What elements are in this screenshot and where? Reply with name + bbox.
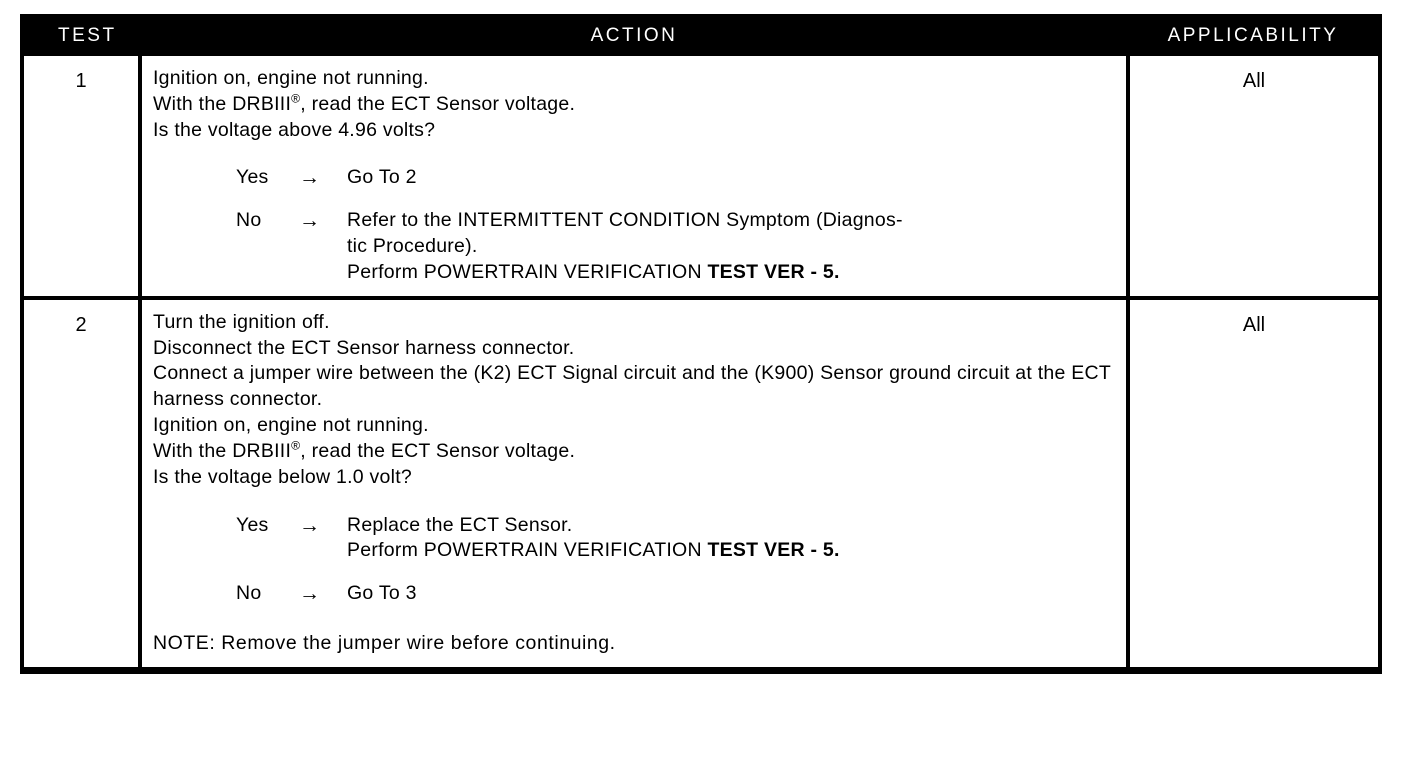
statement-text: With the DRBIII xyxy=(153,93,291,115)
branch-line-normal: Perform POWERTRAIN VERIFICATION xyxy=(347,539,707,561)
action-statement: Ignition on, engine not running. xyxy=(153,413,1116,439)
branch-line: Replace the ECT Sensor. xyxy=(347,513,1116,539)
branch-line: tic Procedure). xyxy=(347,234,1116,260)
action-cell: Ignition on, engine not running. With th… xyxy=(140,56,1128,298)
branch-label-yes: Yes xyxy=(153,513,299,539)
diagnostic-test-table: TEST ACTION APPLICABILITY 1 Ignition on,… xyxy=(20,14,1382,674)
column-header-action: ACTION xyxy=(140,16,1128,56)
branch-line: Perform POWERTRAIN VERIFICATION TEST VER… xyxy=(347,538,1116,564)
branch-label-yes: Yes xyxy=(153,165,299,191)
column-header-test: TEST xyxy=(22,16,140,56)
registered-icon: ® xyxy=(291,438,300,452)
note-text: NOTE: Remove the jumper wire before cont… xyxy=(153,631,1116,657)
table-header-row: TEST ACTION APPLICABILITY xyxy=(22,16,1380,56)
branch-no: No → Go To 3 xyxy=(153,581,1116,607)
test-number: 1 xyxy=(22,56,140,298)
statement-text: With the DRBIII xyxy=(153,440,291,462)
branch-yes: Yes → Go To 2 xyxy=(153,165,1116,191)
branch-no: No → Refer to the INTERMITTENT CONDITION… xyxy=(153,208,1116,285)
branch-yes-text: Go To 2 xyxy=(347,165,1116,191)
registered-icon: ® xyxy=(291,91,300,105)
action-statement: Ignition on, engine not running. xyxy=(153,66,1116,92)
action-statement: Turn the ignition off. xyxy=(153,310,1116,336)
action-question: Is the voltage above 4.96 volts? xyxy=(153,118,1116,144)
table-body: 1 Ignition on, engine not running. With … xyxy=(22,56,1380,670)
branch-label-no: No xyxy=(153,208,299,234)
table-row: 2 Turn the ignition off. Disconnect the … xyxy=(22,298,1380,671)
applicability-value: All xyxy=(1128,56,1380,298)
column-header-applicability: APPLICABILITY xyxy=(1128,16,1380,56)
branch-line-normal: Perform POWERTRAIN VERIFICATION xyxy=(347,261,707,283)
branch-line-bold: TEST VER - 5. xyxy=(707,261,839,283)
arrow-icon: → xyxy=(299,581,347,607)
action-cell: Turn the ignition off. Disconnect the EC… xyxy=(140,298,1128,671)
statement-text: , read the ECT Sensor voltage. xyxy=(300,440,575,462)
action-statement: Disconnect the ECT Sensor harness connec… xyxy=(153,336,1116,362)
table-row: 1 Ignition on, engine not running. With … xyxy=(22,56,1380,298)
action-question: Is the voltage below 1.0 volt? xyxy=(153,465,1116,491)
branch-line: Go To 3 xyxy=(347,581,1116,607)
branch-line: Refer to the INTERMITTENT CONDITION Symp… xyxy=(347,208,1116,234)
branch-no-text: Refer to the INTERMITTENT CONDITION Symp… xyxy=(347,208,1116,285)
branch-yes: Yes → Replace the ECT Sensor. Perform PO… xyxy=(153,513,1116,565)
arrow-icon: → xyxy=(299,208,347,234)
table-header: TEST ACTION APPLICABILITY xyxy=(22,16,1380,56)
arrow-icon: → xyxy=(299,513,347,539)
diagnostic-table-page: TEST ACTION APPLICABILITY 1 Ignition on,… xyxy=(0,0,1408,764)
branch-line: Go To 2 xyxy=(347,165,1116,191)
arrow-icon: → xyxy=(299,165,347,191)
applicability-value: All xyxy=(1128,298,1380,671)
branch-line-bold: TEST VER - 5. xyxy=(707,539,839,561)
action-statement: Connect a jumper wire between the (K2) E… xyxy=(153,361,1116,413)
branch-no-text: Go To 3 xyxy=(347,581,1116,607)
action-statement: With the DRBIII®, read the ECT Sensor vo… xyxy=(153,439,1116,465)
branch-label-no: No xyxy=(153,581,299,607)
statement-text: , read the ECT Sensor voltage. xyxy=(300,93,575,115)
branch-yes-text: Replace the ECT Sensor. Perform POWERTRA… xyxy=(347,513,1116,565)
branch-line: Perform POWERTRAIN VERIFICATION TEST VER… xyxy=(347,260,1116,286)
action-statement: With the DRBIII®, read the ECT Sensor vo… xyxy=(153,92,1116,118)
test-number: 2 xyxy=(22,298,140,671)
